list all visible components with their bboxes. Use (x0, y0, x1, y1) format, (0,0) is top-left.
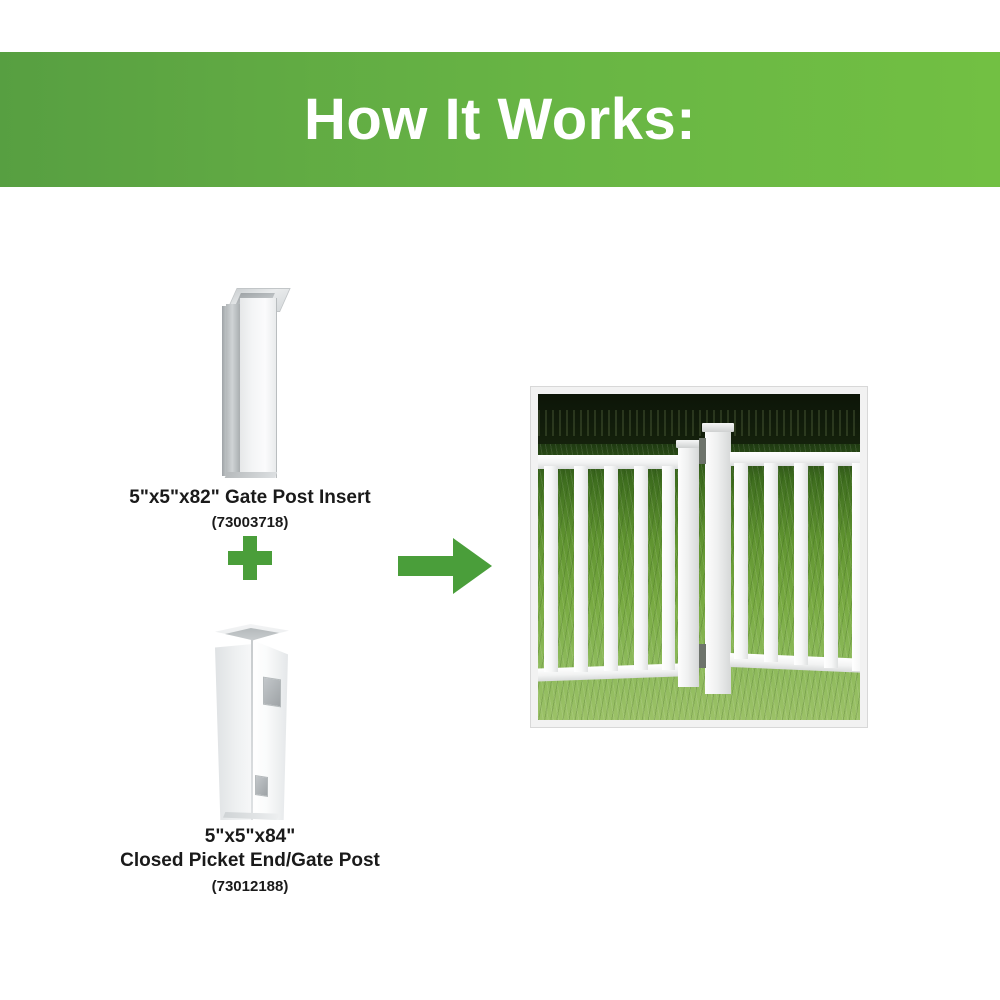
vinyl-post-insert-channel-icon (218, 286, 282, 478)
right-arrow-icon (398, 538, 492, 594)
product-name: 5"x5"x82" Gate Post Insert (0, 486, 500, 510)
photo-hinge-upper (699, 438, 706, 464)
photo-picket (662, 466, 675, 670)
photo-gate-post-cap (676, 440, 701, 448)
arrow-head (453, 538, 492, 594)
result-photo-frame (530, 386, 868, 728)
post-left-face (215, 644, 253, 820)
photo-picket (634, 466, 648, 670)
post-routed-hole-upper (263, 677, 281, 708)
photo-picket (574, 466, 588, 672)
fence-photo-icon (538, 394, 860, 720)
photo-picket (764, 463, 778, 662)
page-title: How It Works: (304, 91, 696, 149)
photo-picket (544, 466, 558, 672)
photo-gate-post (678, 444, 699, 687)
photo-main-post-cap (702, 423, 734, 432)
product-sku: (73012188) (0, 876, 500, 897)
insert-side-face (226, 304, 240, 478)
post-open-top (215, 624, 289, 654)
arrow-shaft (398, 556, 460, 576)
photo-picket (604, 466, 618, 671)
photo-picket (852, 463, 860, 671)
post-routed-hole-lower (255, 775, 268, 797)
post-corner-edge (251, 640, 253, 820)
insert-bottom-edge (225, 472, 278, 478)
vinyl-hollow-gate-post-icon (205, 616, 295, 821)
product-name-line1: 5"x5"x84" (0, 825, 500, 849)
header-banner: How It Works: (0, 52, 1000, 187)
caption-closed-picket-end-gate-post: 5"x5"x84" Closed Picket End/Gate Post (7… (0, 825, 500, 897)
photo-picket (794, 463, 808, 665)
photo-hinge-lower (699, 644, 706, 668)
plus-icon (228, 536, 272, 580)
photo-main-post (705, 428, 731, 694)
photo-picket (734, 463, 748, 659)
product-name-line2: Closed Picket End/Gate Post (0, 849, 500, 873)
insert-front-face (240, 298, 277, 478)
photo-picket (824, 463, 838, 668)
product-gate-post-insert (0, 240, 500, 490)
caption-gate-post-insert: 5"x5"x82" Gate Post Insert (73003718) (0, 486, 500, 533)
